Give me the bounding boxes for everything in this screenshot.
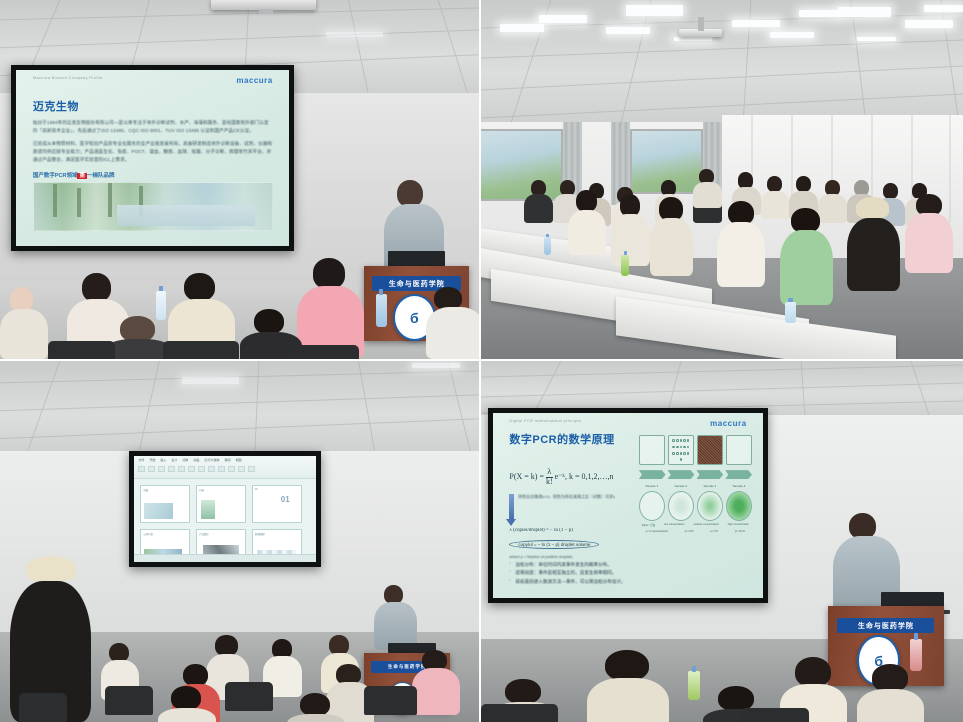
ceiling-grid-icon — [0, 361, 479, 451]
sample-circle — [726, 491, 752, 521]
slide-thumbnail[interactable]: 01 01 — [252, 485, 302, 522]
ribbon-tool-icon[interactable] — [168, 466, 175, 472]
ribbon-tab[interactable]: 审阅 — [224, 458, 230, 462]
slide-subtitle-suffix: 一梯队品牌 — [87, 173, 115, 179]
slide-paragraph-2: 已完成从本物原材料、医学检验产品到专业化服务的全产业链发展布局，具备研发制造体外… — [33, 140, 273, 164]
audience-member — [297, 258, 364, 359]
chair — [364, 686, 417, 715]
slide-thumbnail[interactable]: 目录 — [196, 485, 246, 522]
slide-thumbnail-title: 01 — [253, 486, 301, 493]
ribbon-tab[interactable]: 开始 — [149, 458, 155, 462]
down-arrow-icon — [509, 494, 514, 520]
sample-value: p= 0 copies/droplet — [646, 530, 668, 533]
formula-fraction: λ k! — [546, 468, 553, 487]
emblem-glyph: б — [410, 310, 419, 326]
ribbon-tool-icon[interactable] — [198, 466, 205, 472]
stage-label: Sample 2 — [675, 484, 688, 488]
audience-member — [587, 650, 669, 722]
ceiling — [481, 0, 963, 122]
slide-subtitle-highlight: 第 — [77, 173, 87, 179]
projection-screen: Maccura Biotech Company Profile maccura … — [11, 65, 294, 252]
screen-surface: Maccura Biotech Company Profile maccura … — [16, 70, 289, 247]
maccura-logo: maccura — [236, 76, 272, 85]
ceiling-grid-icon — [481, 361, 963, 415]
projector-arm — [698, 17, 704, 30]
copy-numerator: − ln (1 − p) — [538, 542, 560, 547]
sample-caption: high concentration — [728, 523, 749, 527]
ribbon-tab[interactable]: 视图 — [235, 458, 241, 462]
chair — [481, 704, 558, 722]
sample-value: p= 0.5 — [711, 530, 718, 533]
audience-member — [905, 194, 953, 273]
stage-label: Sample 1 — [645, 484, 658, 488]
stage-arrow-icon — [725, 470, 752, 479]
presenter — [374, 585, 417, 650]
diagram-values: p= 0 copies/droplet p= 0.05 p= 0.5 p= 10… — [639, 530, 752, 533]
bullet-item: 适用前提：事件是相互独立的，且发生频率相同。 — [509, 569, 676, 578]
audience-member — [650, 197, 693, 276]
slide-subtitle-prefix: 国产数字PCR领域 — [33, 173, 78, 179]
sample-caption: blank / 空白 — [642, 523, 656, 527]
audience-member — [857, 664, 924, 722]
chair — [19, 693, 67, 722]
chair — [225, 682, 273, 711]
bucket-hat — [26, 556, 76, 581]
audience-member — [717, 201, 765, 287]
projection-screen: Digital PCR mathematical principle maccu… — [488, 408, 768, 603]
ribbon-tool-icon[interactable] — [248, 466, 255, 472]
drink-can — [785, 302, 797, 324]
chair — [163, 341, 240, 361]
audience-member — [0, 287, 48, 359]
ribbon-tool-icon[interactable] — [238, 466, 245, 472]
slide-paragraph-1: 始创于1994年的迈克生物股份有限公司—是以来专注于体外诊断试剂、水产、海藻和服… — [33, 119, 273, 135]
projector-arm — [259, 9, 273, 14]
ribbon-tab[interactable]: 插入 — [160, 458, 166, 462]
diagram-emulsion-card — [697, 435, 723, 465]
formula-left: P(X = k) = — [509, 473, 544, 482]
sample-value: p= 0.05 — [685, 530, 694, 533]
formula-tail: e⁻ᵏ, k = 0,1,2,…,n — [555, 473, 614, 482]
water-bottle — [376, 294, 387, 326]
ceiling — [0, 361, 479, 451]
audience-member — [426, 287, 481, 359]
sample-value: p= 10.01 — [735, 530, 745, 533]
ribbon-tabs[interactable]: 文件 开始 插入 设计 切换 动画 幻灯片放映 审阅 视图 — [134, 456, 316, 464]
screen-surface: 文件 开始 插入 设计 切换 动画 幻灯片放映 审阅 视图 — [134, 456, 316, 562]
ribbon-tool-icon[interactable] — [228, 466, 235, 472]
water-bottle — [544, 237, 552, 255]
slide-thumbnail-title: 目录 — [197, 486, 245, 494]
derivation-note: 阴性反应微滴λ=0，阳性为所在液滴之比（对数）可求λ — [518, 494, 615, 500]
ribbon-tool-icon[interactable] — [148, 466, 155, 472]
sample-circle — [697, 491, 723, 521]
slide-thumbnail[interactable]: 封面 — [140, 485, 190, 522]
diagram-chip-card — [639, 435, 665, 465]
copy-per-ul-formula: copy/ul = − ln (1 − p) droplet volume — [509, 540, 599, 549]
powerpoint-ribbon[interactable]: 文件 开始 插入 设计 切换 动画 幻灯片放映 审阅 视图 — [134, 456, 316, 479]
ribbon-tool-icon[interactable] — [188, 466, 195, 472]
stage-label: Sample 3 — [704, 484, 717, 488]
sample-circle — [668, 491, 694, 521]
ribbon-tab[interactable]: 幻灯片放映 — [204, 458, 219, 462]
stage-arrow-icon — [639, 470, 666, 479]
ribbon-tab[interactable]: 设计 — [171, 458, 177, 462]
slide-campus-photo — [33, 182, 273, 231]
audience-member — [780, 208, 833, 305]
ribbon-tool-row[interactable] — [134, 464, 316, 474]
stage-arrow-icon — [696, 470, 723, 479]
water-bottle — [156, 291, 167, 320]
audience-member — [287, 693, 344, 722]
slide-header-note: Digital PCR mathematical principle — [509, 418, 581, 423]
stage-arrow-icon — [668, 470, 695, 479]
bullet-item: 目前基因进入数滴方法—事件，可以用泊松分布估计。 — [509, 578, 676, 587]
audience-member — [158, 686, 215, 722]
slide-thumbnail-title: 产品图示 — [197, 530, 245, 538]
slide-company-intro: Maccura Biotech Company Profile maccura … — [16, 70, 289, 247]
panel-top-left: Maccura Biotech Company Profile maccura … — [0, 0, 481, 361]
audience-member — [412, 650, 460, 715]
slide-subtitle: 国产数字PCR领域第一梯队品牌 — [33, 171, 273, 179]
chair — [287, 345, 359, 361]
slide-thumbnail-title: 封面 — [141, 486, 189, 494]
slide-sorter-grid[interactable]: 封面 目录 01 01 公司介绍 — [134, 479, 316, 561]
formula-denominator: k! — [546, 478, 553, 487]
ceiling-light — [326, 32, 383, 38]
audience-member — [611, 194, 650, 266]
diagram-readout-card — [726, 435, 752, 465]
ribbon-tool-icon[interactable] — [138, 466, 145, 472]
podium-nameplate-text: 生命与医药学院 — [858, 621, 914, 631]
chair — [105, 686, 153, 715]
slide-title: 迈克生物 — [33, 98, 273, 114]
chair — [48, 341, 115, 361]
sample-caption: medium concentration — [693, 523, 719, 527]
slide-dpcr-math: Digital PCR mathematical principle maccu… — [493, 413, 763, 598]
audience-member — [524, 180, 553, 223]
slide-header-note: Maccura Biotech Company Profile — [33, 75, 103, 80]
drink-bottle — [621, 255, 630, 277]
diagram-card-row — [639, 435, 752, 465]
drink-bottle — [688, 671, 700, 700]
diagram-droplet-array-card — [668, 435, 694, 465]
ribbon-tool-icon[interactable] — [208, 466, 215, 472]
chair — [741, 708, 808, 722]
copy-label: copy/ul = — [518, 542, 536, 547]
sample-caption: low concentration — [664, 523, 684, 527]
diagram-captions: blank / 空白 low concentration medium conc… — [639, 523, 752, 527]
ribbon-tool-icon[interactable] — [158, 466, 165, 472]
screen-surface: Digital PCR mathematical principle maccu… — [493, 413, 763, 598]
podium-nameplate: 生命与医药学院 — [837, 618, 934, 634]
slide-thumbnail-title: 原理流程 — [253, 530, 301, 538]
slide-thumbnail-title: 公司介绍 — [141, 530, 189, 538]
diagram-stage-labels: Sample 1 Sample 2 Sample 3 Sample 4 — [639, 484, 752, 488]
projection-screen: 文件 开始 插入 设计 切换 动画 幻灯片放映 审阅 视图 — [129, 451, 321, 567]
stage-label: Sample 4 — [733, 484, 746, 488]
bucket-hat — [856, 197, 889, 218]
powerpoint-status-bar[interactable] — [134, 554, 316, 561]
dpcr-workflow-diagram: Sample 1 Sample 2 Sample 3 Sample 4 — [639, 435, 752, 568]
maccura-logo: maccura — [710, 419, 746, 428]
audience-member-with-hat — [847, 197, 900, 290]
diagram-sample-circles — [639, 491, 752, 521]
ribbon-tool-icon[interactable] — [178, 466, 185, 472]
audience-member — [568, 190, 607, 255]
copy-denominator: droplet volume — [561, 542, 591, 547]
photo-collage: Maccura Biotech Company Profile maccura … — [0, 0, 963, 722]
panel-top-right — [481, 0, 963, 361]
ribbon-tab[interactable]: 动画 — [193, 458, 199, 462]
powerpoint-window[interactable]: 文件 开始 插入 设计 切换 动画 幻灯片放映 审阅 视图 — [134, 456, 316, 562]
ribbon-tab[interactable]: 文件 — [138, 458, 144, 462]
panel-bottom-left: 文件 开始 插入 设计 切换 动画 幻灯片放映 审阅 视图 — [0, 361, 481, 722]
diagram-arrow-row — [639, 470, 752, 479]
sample-circle — [639, 491, 665, 521]
ribbon-tool-icon[interactable] — [218, 466, 225, 472]
ribbon-tab[interactable]: 切换 — [182, 458, 188, 462]
panel-bottom-right: Digital PCR mathematical principle maccu… — [481, 361, 963, 722]
copy-fraction: − ln (1 − p) droplet volume — [538, 542, 591, 547]
